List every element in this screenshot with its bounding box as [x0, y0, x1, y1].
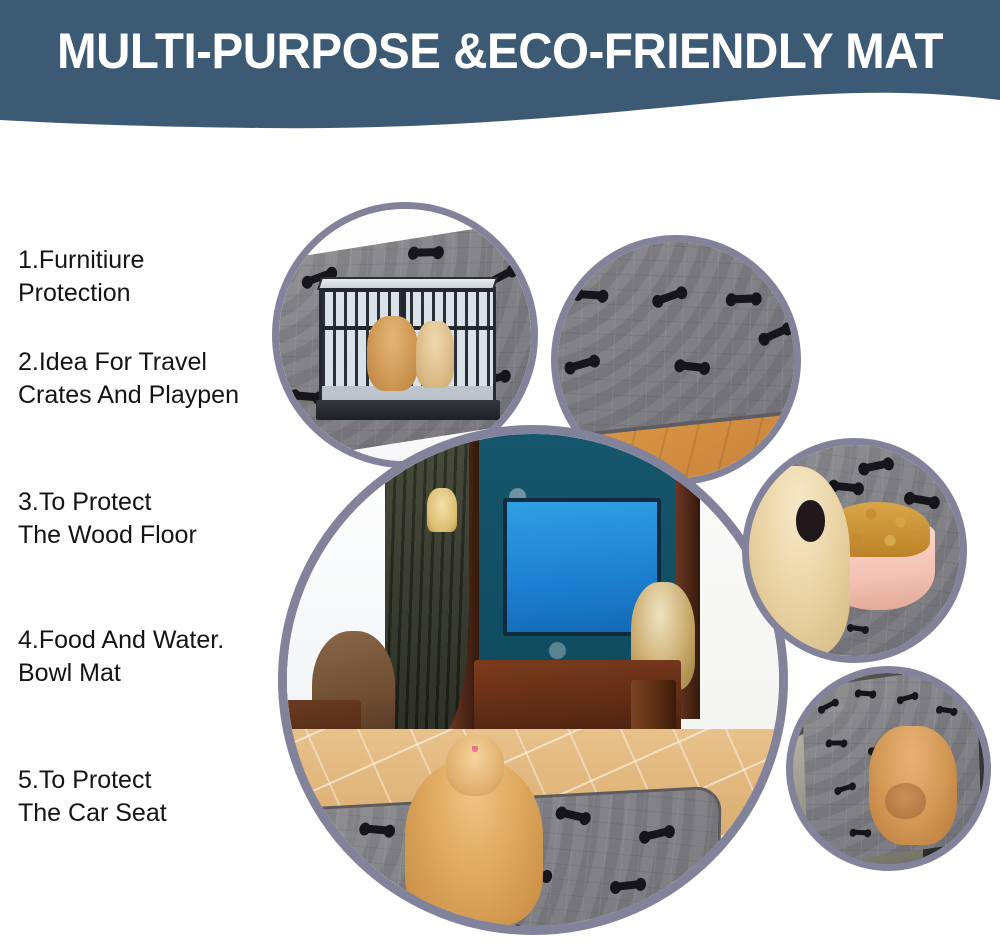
bone-motif	[858, 690, 874, 696]
wall-sconce-lamp	[427, 488, 457, 532]
bone-motif	[614, 880, 640, 891]
photo-circle-car-seat	[786, 666, 991, 871]
bone-motif	[577, 290, 604, 300]
crate-frame-top	[322, 288, 492, 292]
living-room-scene	[287, 434, 779, 926]
bone-motif	[852, 829, 868, 835]
dog-nose	[796, 500, 826, 542]
golden-retriever-on-mat	[405, 759, 543, 926]
food-bowl-scene	[749, 445, 960, 656]
puppy-muzzle	[885, 783, 925, 819]
crate-scene	[279, 209, 531, 461]
photo-circle-food-bowl	[742, 438, 967, 663]
bone-motif	[412, 249, 439, 258]
bone-motif	[363, 825, 390, 835]
dog-tongue	[472, 746, 478, 751]
bone-motif	[939, 706, 956, 713]
bone-motif	[833, 482, 860, 493]
photo-circle-living-room	[278, 425, 788, 935]
infographic-page: MULTI-PURPOSE &ECO-FRIENDLY MAT 1.Furnit…	[0, 0, 1000, 946]
puppy-on-mat	[869, 726, 957, 844]
photo-collage	[0, 0, 1000, 946]
dog-in-crate	[367, 316, 418, 390]
crate-base-tray	[316, 400, 500, 419]
golden-retriever-beside-bowl	[749, 466, 850, 656]
bone-motif	[731, 294, 757, 303]
car-seat-scene	[793, 673, 984, 864]
window-curtain	[385, 434, 469, 739]
dog-crate	[319, 285, 495, 411]
bone-motif	[828, 741, 844, 746]
dog-in-crate-second	[416, 321, 453, 388]
bone-motif	[679, 361, 706, 372]
dog-head	[446, 735, 504, 795]
mat-on-wood-floor	[558, 242, 794, 442]
